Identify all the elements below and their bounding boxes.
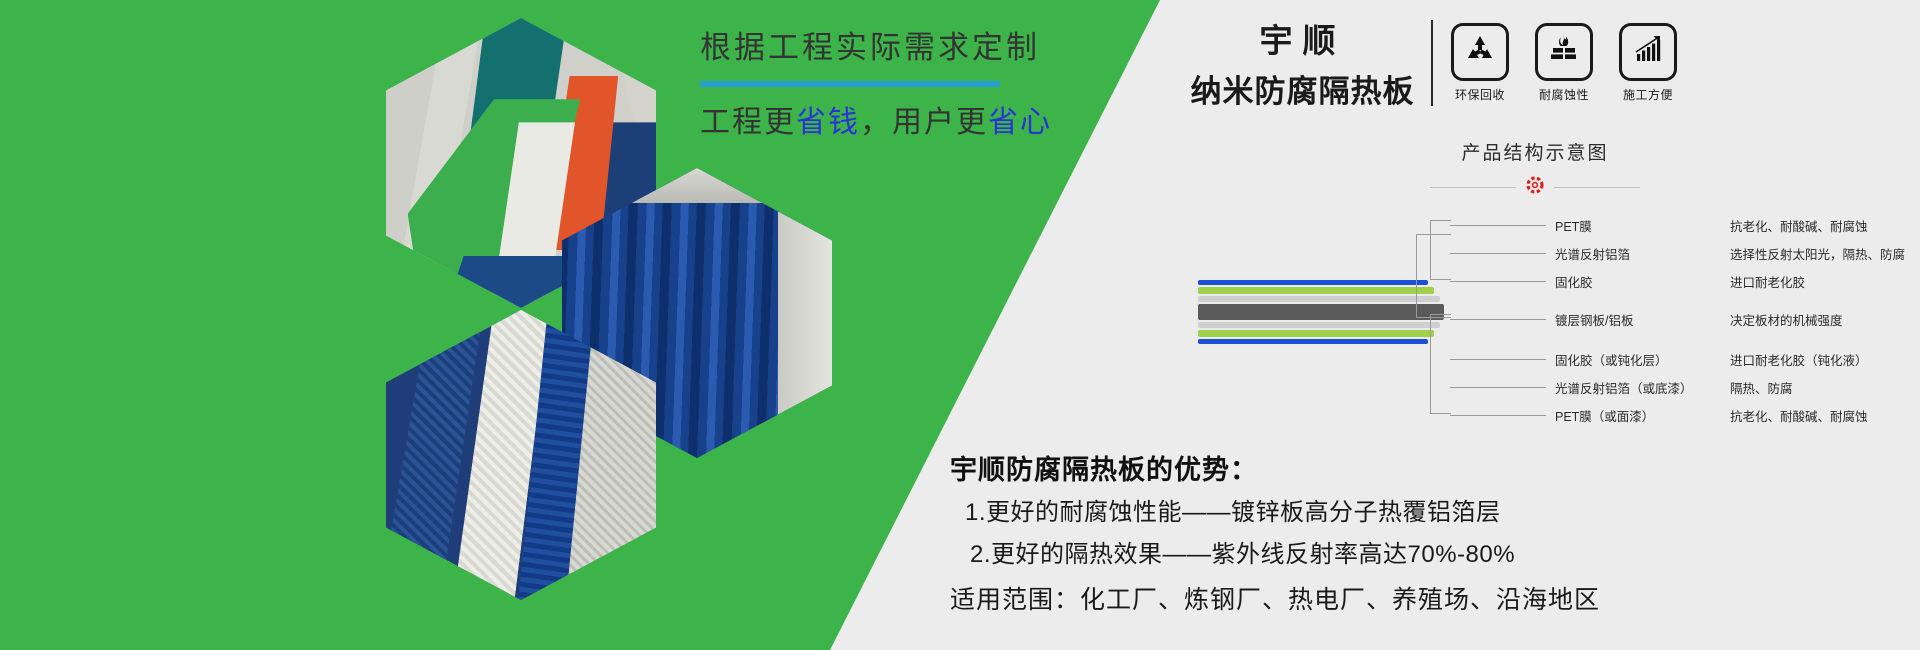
layer-row-6: 光谱反射铝箔（或底漆） 隔热、防腐 [1450, 378, 1793, 397]
right-content-panel: 宇顺 纳米防腐隔热板 环保回收 [1150, 0, 1920, 650]
application-scope: 适用范围：化工厂、炼钢厂、热电厂、养殖场、沿海地区 [950, 580, 1600, 616]
layer-name: 光谱反射铝箔（或底漆） [1555, 378, 1730, 397]
layer-desc: 选择性反射太阳光，隔热、防腐 [1730, 244, 1905, 263]
layer-name: PET膜（或面漆） [1555, 406, 1730, 425]
layer-name: 光谱反射铝箔 [1555, 244, 1730, 263]
leader-line [1450, 281, 1546, 282]
leader-line [1450, 387, 1546, 388]
layer-row-7: PET膜（或面漆） 抗老化、耐酸碱、耐腐蚀 [1450, 406, 1868, 425]
layer-row-5: 固化胶（或钝化层） 进口耐老化胶（钝化液） [1450, 350, 1868, 369]
brand-header: 宇顺 纳米防腐隔热板 环保回收 [1180, 14, 1900, 111]
layer-foil-top [1198, 287, 1434, 294]
badge-corrosion-label: 耐腐蚀性 [1533, 86, 1595, 103]
brand-divider [1431, 20, 1433, 106]
layer-foil-bottom [1198, 330, 1434, 337]
leader-line [1450, 415, 1546, 416]
layer-label-column: PET膜 抗老化、耐酸碱、耐腐蚀 光谱反射铝箔 选择性反射太阳光，隔热、防腐 固… [1450, 210, 1920, 440]
layer-name: 固化胶 [1555, 272, 1730, 291]
layer-desc: 隔热、防腐 [1730, 378, 1793, 397]
headline-line-2: 工程更省钱，用户更省心 [700, 97, 1140, 141]
recycle-icon [1463, 32, 1497, 71]
promo-banner: 根据工程实际需求定制 工程更省钱，用户更省心 宇顺 纳米防腐隔热板 [0, 0, 1920, 650]
layer-desc: 决定板材的机械强度 [1730, 310, 1843, 329]
layer-pet-bottom [1198, 339, 1428, 344]
layer-row-1: PET膜 抗老化、耐酸碱、耐腐蚀 [1450, 216, 1868, 235]
brand-name-top: 宇顺 [1180, 14, 1425, 62]
layer-row-4: 镀层钢板/铝板 决定板材的机械强度 [1450, 310, 1843, 329]
ornament-line-right [1554, 187, 1640, 188]
advantage-item-1: 1.更好的耐腐蚀性能——镀锌板高分子热覆铝箔层 [965, 492, 1501, 527]
layer-name: 固化胶（或钝化层） [1555, 350, 1730, 369]
headline-mid: ，用户更 [860, 106, 988, 139]
feature-badges: 环保回收 耐腐蚀 [1449, 23, 1679, 103]
badge-corrosion: 耐腐蚀性 [1533, 23, 1595, 103]
headline-block: 根据工程实际需求定制 工程更省钱，用户更省心 [700, 22, 1140, 141]
leader-line [1450, 253, 1546, 254]
headline-divider [700, 81, 1000, 87]
flame-bricks-icon [1547, 32, 1581, 71]
layer-desc: 进口耐老化胶 [1730, 272, 1805, 291]
ornament-line-left [1430, 187, 1516, 188]
badge-recycle: 环保回收 [1449, 23, 1511, 103]
brand-name-bottom: 纳米防腐隔热板 [1180, 66, 1425, 111]
layer-glue-top [1198, 296, 1440, 302]
leader-line [1450, 359, 1546, 360]
badge-installation-label: 施工方便 [1617, 86, 1679, 103]
advantages-title: 宇顺防腐隔热板的优势： [950, 448, 1710, 487]
layer-pet-top [1198, 280, 1428, 285]
layer-row-3: 固化胶 进口耐老化胶 [1450, 272, 1805, 291]
badge-installation-box [1619, 23, 1677, 81]
advantage-item-2: 2.更好的隔热效果——紫外线反射率高达70%-80% [970, 534, 1515, 569]
brand-names: 宇顺 纳米防腐隔热板 [1180, 14, 1425, 111]
leader-line [1450, 319, 1546, 320]
layer-name: 镀层钢板/铝板 [1555, 310, 1730, 329]
growth-chart-icon [1631, 32, 1665, 71]
layer-desc: 抗老化、耐酸碱、耐腐蚀 [1730, 216, 1868, 235]
badge-recycle-label: 环保回收 [1449, 86, 1511, 103]
badge-corrosion-box [1535, 23, 1593, 81]
headline-highlight-2: 省心 [988, 106, 1052, 139]
layer-desc: 进口耐老化胶（钝化液） [1730, 350, 1868, 369]
badge-recycle-box [1451, 23, 1509, 81]
diagram-title: 产品结构示意图 [1150, 138, 1920, 165]
structure-diagram: PET膜 抗老化、耐酸碱、耐腐蚀 光谱反射铝箔 选择性反射太阳光，隔热、防腐 固… [1150, 210, 1920, 440]
brace-bottom [1430, 314, 1451, 414]
headline-highlight-1: 省钱 [796, 106, 860, 139]
leader-line [1450, 225, 1546, 226]
layer-core [1198, 304, 1444, 320]
badge-installation: 施工方便 [1617, 23, 1679, 103]
brace-middle [1416, 234, 1451, 318]
layer-name: PET膜 [1555, 216, 1730, 235]
layer-desc: 抗老化、耐酸碱、耐腐蚀 [1730, 406, 1868, 425]
gear-icon [1526, 176, 1544, 199]
layer-row-2: 光谱反射铝箔 选择性反射太阳光，隔热、防腐 [1450, 244, 1905, 263]
layer-glue-bottom [1198, 322, 1440, 328]
headline-line-1: 根据工程实际需求定制 [700, 22, 1140, 67]
headline-pre: 工程更 [700, 106, 796, 139]
diagram-ornament [1150, 176, 1920, 199]
layer-stack-graphic [1198, 272, 1444, 378]
